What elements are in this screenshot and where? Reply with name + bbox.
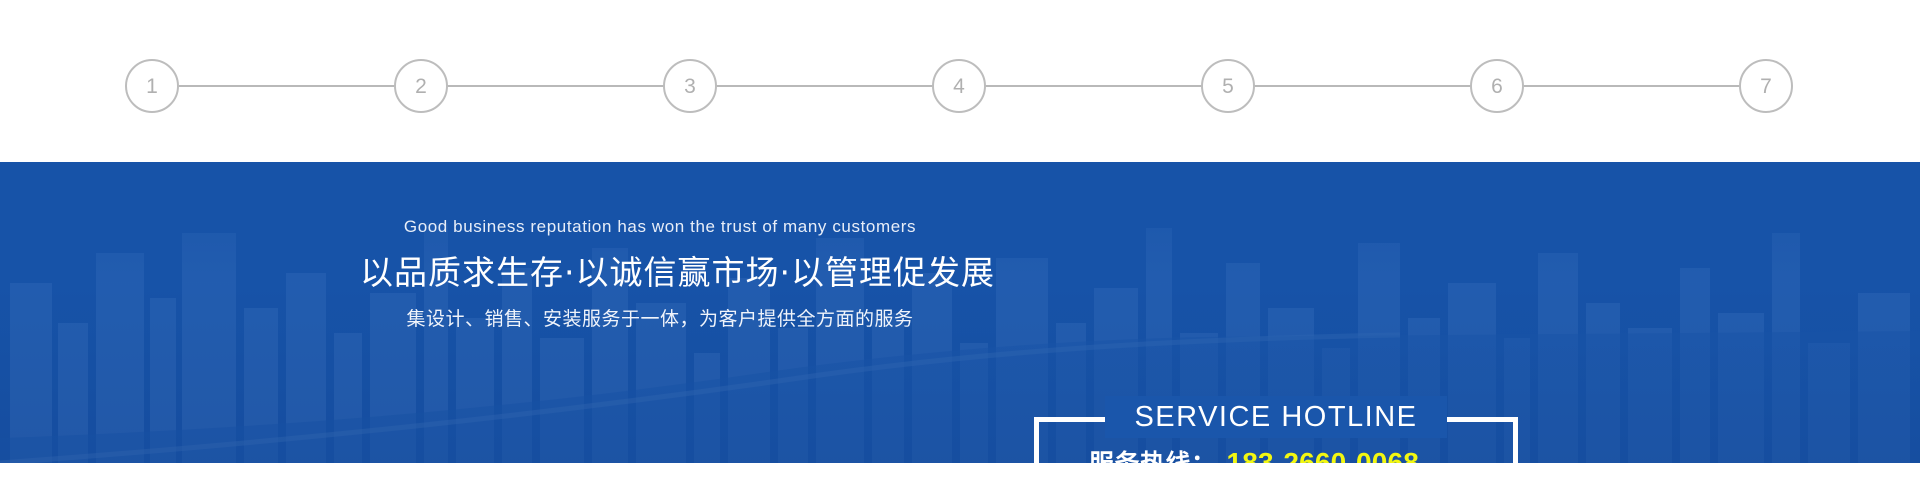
stepper-node-5[interactable]: 5 bbox=[1201, 59, 1255, 113]
stepper-node-label: 4 bbox=[953, 76, 965, 97]
stepper-node-1[interactable]: 1 bbox=[125, 59, 179, 113]
stepper-node-6[interactable]: 6 bbox=[1470, 59, 1524, 113]
stepper-node-label: 2 bbox=[415, 76, 427, 97]
slogan-chinese-main: 以品质求生存·以诚信赢市场·以管理促发展 bbox=[360, 252, 960, 293]
slogan-block: Good business reputation has won the tru… bbox=[360, 217, 960, 331]
promo-banner: Good business reputation has won the tru… bbox=[0, 162, 1920, 463]
hotline-title: SERVICE HOTLINE bbox=[1105, 396, 1447, 438]
hotline-number-primary[interactable]: 183-2660-0068 bbox=[1227, 447, 1420, 463]
banner-content: Good business reputation has won the tru… bbox=[0, 162, 1920, 463]
stepper-node-label: 6 bbox=[1491, 76, 1503, 97]
stepper-node-label: 1 bbox=[146, 76, 158, 97]
stepper-node-label: 7 bbox=[1760, 76, 1772, 97]
stepper: 1 2 3 4 5 6 7 bbox=[125, 59, 1797, 113]
stepper-node-label: 5 bbox=[1222, 76, 1234, 97]
page-root: 1 2 3 4 5 6 7 bbox=[0, 0, 1920, 500]
hotline-rows: 服务热线： 183-2660-0068 服务热线： 0551-63749777 bbox=[1034, 444, 1518, 463]
stepper-node-label: 3 bbox=[684, 76, 696, 97]
stepper-node-2[interactable]: 2 bbox=[394, 59, 448, 113]
slogan-chinese-sub: 集设计、销售、安装服务于一体，为客户提供全方面的服务 bbox=[360, 307, 960, 332]
stepper-node-4[interactable]: 4 bbox=[932, 59, 986, 113]
stepper-strip: 1 2 3 4 5 6 7 bbox=[0, 0, 1920, 162]
hotline-label: 服务热线： bbox=[1089, 444, 1217, 463]
stepper-node-7[interactable]: 7 bbox=[1739, 59, 1793, 113]
hotline-row-primary: 服务热线： 183-2660-0068 bbox=[1034, 444, 1518, 463]
slogan-english: Good business reputation has won the tru… bbox=[360, 217, 960, 237]
stepper-node-3[interactable]: 3 bbox=[663, 59, 717, 113]
